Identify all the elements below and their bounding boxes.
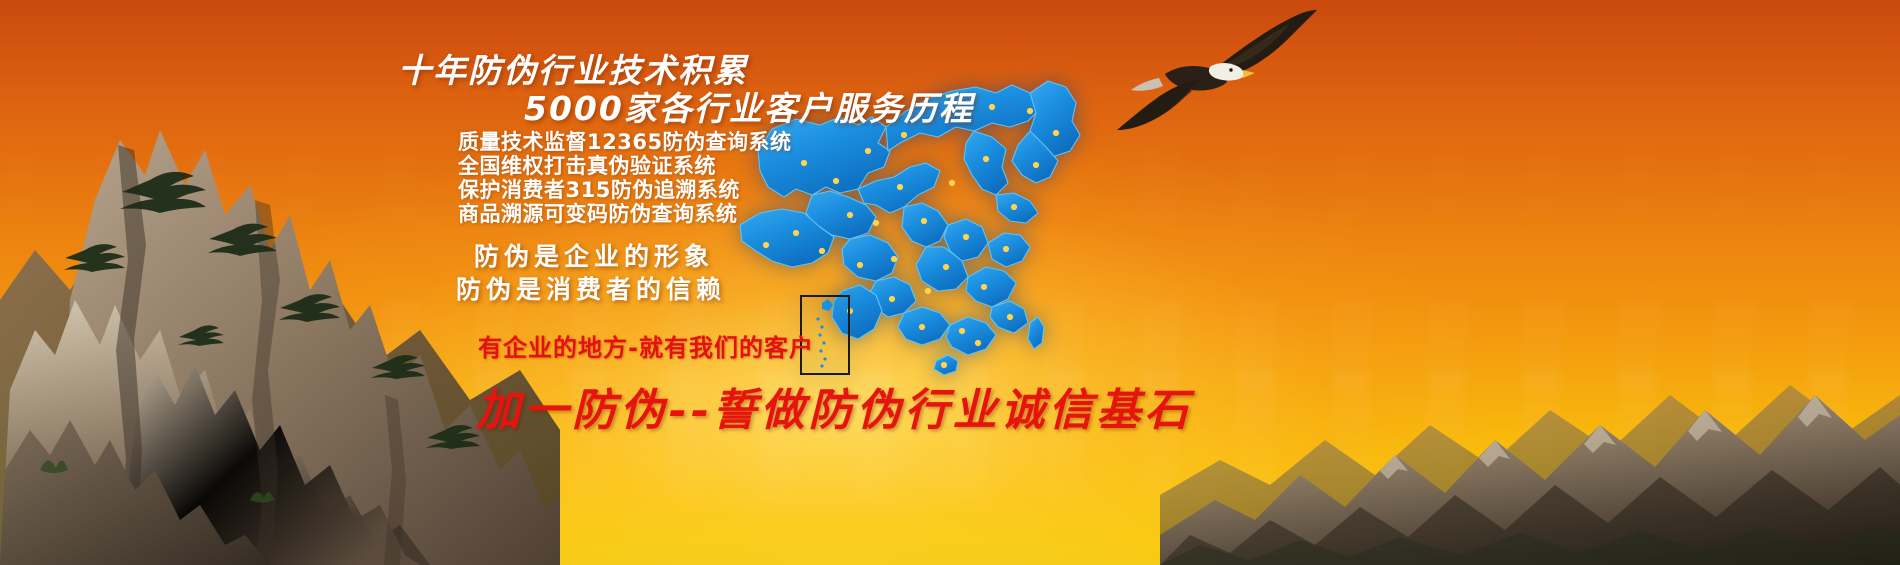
feature-item: 商品溯源可变码防伪查询系统 bbox=[458, 202, 792, 226]
slogan-item: 防伪是企业的形象 bbox=[474, 240, 726, 273]
feature-item: 质量技术监督12365防伪查询系统 bbox=[458, 130, 792, 154]
feature-list: 质量技术监督12365防伪查询系统 全国维权打击真伪验证系统 保护消费者315防… bbox=[458, 130, 792, 226]
headline-line-2: 5000家各行业客户服务历程 bbox=[524, 82, 974, 130]
feature-item: 全国维权打击真伪验证系统 bbox=[458, 154, 792, 178]
promo-banner: 十年防伪行业技术积累 5000家各行业客户服务历程 质量技术监督12365防伪查… bbox=[0, 0, 1900, 565]
eagle-silhouette bbox=[1095, 8, 1325, 133]
bottom-tagline: 加一防伪--誓做防伪行业诚信基石 bbox=[476, 374, 1193, 438]
right-mountain-range bbox=[1160, 245, 1900, 565]
slogan-list: 防伪是企业的形象 防伪是消费者的信赖 bbox=[474, 240, 726, 306]
feature-item: 保护消费者315防伪追溯系统 bbox=[458, 178, 792, 202]
slogan-item: 防伪是消费者的信赖 bbox=[456, 273, 726, 306]
customer-reach-line: 有企业的地方-就有我们的客户 bbox=[478, 328, 814, 363]
